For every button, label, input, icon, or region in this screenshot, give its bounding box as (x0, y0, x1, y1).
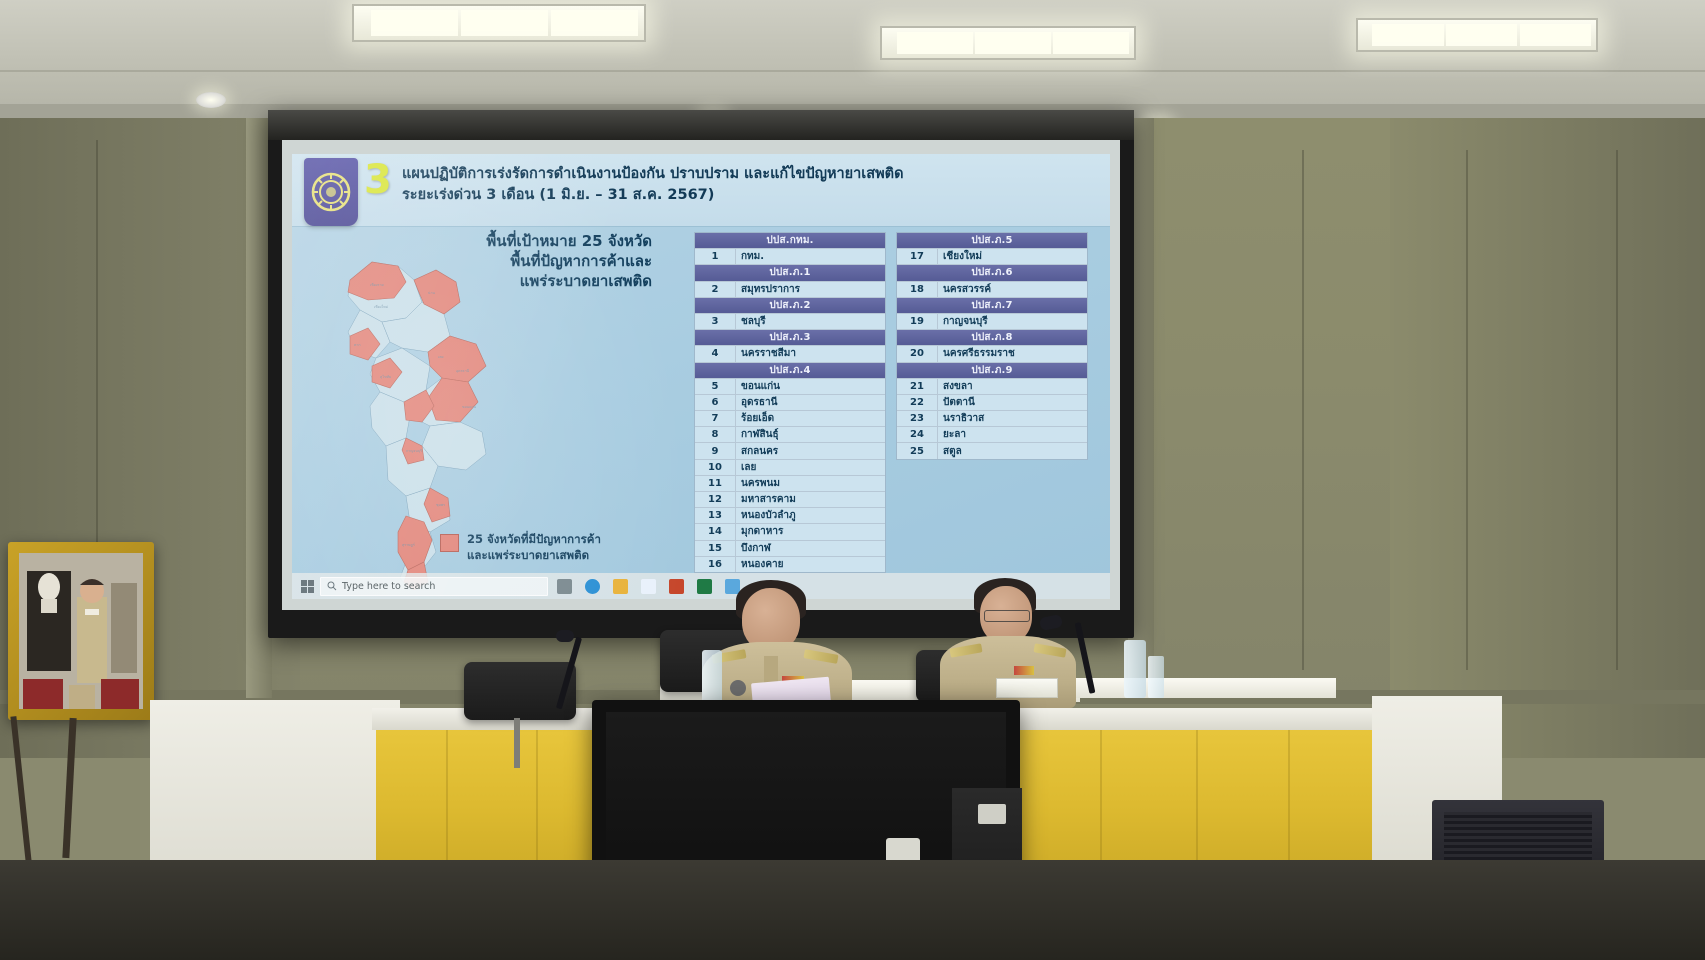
table-row: 3ชลบุรี (695, 314, 885, 330)
thai-government-emblem-icon (304, 158, 358, 226)
ceiling-light-fixture (352, 4, 646, 42)
slide-number: 3 (364, 160, 392, 200)
legend-color-swatch (440, 534, 459, 552)
table-row: 24ยะลา (897, 427, 1087, 443)
row-number: 14 (695, 524, 736, 539)
row-province: ยะลา (938, 427, 1087, 442)
table-row: 7ร้อยเอ็ด (695, 411, 885, 427)
row-province: ร้อยเอ็ด (736, 411, 885, 426)
table-row: 5ขอนแก่น (695, 379, 885, 395)
table-row: 25สตูล (897, 443, 1087, 458)
row-number: 12 (695, 492, 736, 507)
table-row: 21สงขลา (897, 379, 1087, 395)
table-group-header: ปปส.ภ.1 (695, 265, 885, 281)
slide-title-line-1: แผนปฏิบัติการเร่งรัดการดำเนินงานป้องกัน … (402, 164, 1102, 185)
row-number: 15 (695, 541, 736, 556)
row-province: กาญจนบุรี (938, 314, 1087, 329)
row-province: เชียงใหม่ (938, 249, 1087, 264)
recessed-downlight (196, 92, 226, 108)
uniform-insignia (730, 680, 746, 696)
row-province: มุกดาหาร (736, 524, 885, 539)
water-bottle (1124, 640, 1146, 698)
row-number: 24 (897, 427, 938, 442)
service-ribbon (1014, 666, 1034, 675)
wall-panel-seam (1466, 150, 1468, 670)
microphone-head (556, 630, 574, 642)
table-group-header: ปปส.ภ.3 (695, 330, 885, 346)
svg-text:เชียงราย: เชียงราย (370, 282, 384, 287)
table-row: 10เลย (695, 460, 885, 476)
slide-title: แผนปฏิบัติการเร่งรัดการดำเนินงานป้องกัน … (402, 164, 1102, 206)
monitor-screen (606, 712, 1006, 882)
search-placeholder-text: Type here to search (342, 581, 435, 592)
right-wall (1390, 118, 1705, 758)
chair (464, 662, 576, 720)
row-province: บึงกาฬ (736, 541, 885, 556)
row-province: นครศรีธรรมราช (938, 346, 1087, 361)
row-number: 6 (695, 395, 736, 410)
svg-text:น่าน: น่าน (428, 291, 435, 295)
table-row: 13หนองบัวลำภู (695, 508, 885, 524)
table-row: 18นครสวรรค์ (897, 282, 1087, 298)
table-row: 20นครศรีธรรมราช (897, 346, 1087, 362)
row-province: อุดรธานี (736, 395, 885, 410)
table-row: 2สมุทรปราการ (695, 282, 885, 298)
table-row: 16หนองคาย (695, 557, 885, 572)
row-number: 18 (897, 282, 938, 297)
start-glyph (301, 580, 314, 593)
floor (0, 860, 1705, 960)
row-number: 1 (695, 249, 736, 264)
svg-text:ขอนแก่น: ขอนแก่น (462, 405, 477, 409)
table-group-header: ปปส.ภ.2 (695, 298, 885, 314)
powerpoint-icon[interactable] (665, 576, 688, 597)
table-row: 19กาญจนบุรี (897, 314, 1087, 330)
royal-portrait-in-gold-frame (8, 542, 154, 720)
table-row: 14มุกดาหาร (695, 524, 885, 540)
row-number: 4 (695, 346, 736, 361)
row-number: 9 (695, 443, 736, 458)
legend-line-2: และแพร่ระบาดยาเสพติด (467, 548, 601, 564)
row-number: 3 (695, 314, 736, 329)
portrait-artwork (19, 553, 143, 709)
ceiling-light-fixture (880, 26, 1136, 60)
table-row: 17เชียงใหม่ (897, 249, 1087, 265)
row-province: นครราชสีมา (736, 346, 885, 361)
drinking-glass (1148, 656, 1164, 698)
slide-header: 3 แผนปฏิบัติการเร่งรัดการดำเนินงานป้องกั… (292, 154, 1110, 227)
table-row: 22ปัตตานี (897, 395, 1087, 411)
table-row: 11นครพนม (695, 476, 885, 492)
table-row: 8กาฬสินธุ์ (695, 427, 885, 443)
table-row: 12มหาสารคาม (695, 492, 885, 508)
legend-label: 25 จังหวัดที่มีปัญหาการค้า และแพร่ระบาดย… (467, 532, 601, 563)
chair-leg (514, 718, 520, 768)
table-group-header: ปปส.ภ.6 (897, 265, 1087, 281)
row-province: นครพนม (736, 476, 885, 491)
province-table-right: ปปส.ภ.517เชียงใหม่ปปส.ภ.618นครสวรรค์ปปส.… (896, 232, 1088, 460)
emblem-glyph (311, 172, 351, 212)
row-province: สมุทรปราการ (736, 282, 885, 297)
row-province: มหาสารคาม (736, 492, 885, 507)
row-province: นราธิวาส (938, 411, 1087, 426)
microsoft-edge-icon[interactable] (581, 576, 604, 597)
table-group-header: ปปส.กทม. (695, 233, 885, 249)
row-number: 5 (695, 379, 736, 394)
row-number: 22 (897, 395, 938, 410)
row-number: 7 (695, 411, 736, 426)
row-province: หนองบัวลำภู (736, 508, 885, 523)
table-group-header: ปปส.ภ.9 (897, 363, 1087, 379)
table-row: 15บึงกาฬ (695, 541, 885, 557)
table-group-header: ปปส.ภ.8 (897, 330, 1087, 346)
row-number: 19 (897, 314, 938, 329)
table-group-header: ปปส.ภ.4 (695, 363, 885, 379)
row-number: 2 (695, 282, 736, 297)
name-plate (996, 678, 1058, 698)
row-province: ปัตตานี (938, 395, 1087, 410)
file-explorer-icon[interactable] (609, 576, 632, 597)
table-group-header: ปปส.ภ.7 (897, 298, 1087, 314)
eyeglasses (984, 610, 1030, 622)
portrait-image (19, 553, 143, 709)
row-province: ชลบุรี (736, 314, 885, 329)
row-province: กาฬสินธุ์ (736, 427, 885, 442)
search-icon (327, 581, 337, 591)
task-view-icon[interactable] (553, 576, 576, 597)
row-province: สงขลา (938, 379, 1087, 394)
table-row: 4นครราชสีมา (695, 346, 885, 362)
row-number: 16 (695, 557, 736, 572)
wall-panel-seam (1616, 150, 1618, 670)
slide-title-line-2: ระยะเร่งด่วน 3 เดือน (1 มิ.ย. – 31 ส.ค. … (402, 185, 1102, 206)
row-province: สกลนคร (736, 443, 885, 458)
row-province: เลย (736, 460, 885, 475)
table-row: 23นราธิวาส (897, 411, 1087, 427)
row-number: 21 (897, 379, 938, 394)
province-table-left: ปปส.กทม.1กทม.ปปส.ภ.12สมุทรปราการปปส.ภ.23… (694, 232, 886, 573)
row-number: 10 (695, 460, 736, 475)
ceiling-seam (0, 70, 1705, 72)
search-input[interactable]: Type here to search (320, 577, 548, 596)
presentation-slide: 3 แผนปฏิบัติการเร่งรัดการดำเนินงานป้องกั… (292, 154, 1110, 599)
row-number: 8 (695, 427, 736, 442)
ceiling-light-fixture (1356, 18, 1598, 52)
monitor-port (978, 804, 1006, 824)
row-number: 11 (695, 476, 736, 491)
wall-panel-seam (1302, 150, 1304, 670)
table-row: 9สกลนคร (695, 443, 885, 459)
row-province: นครสวรรค์ (938, 282, 1087, 297)
windows-start-icon[interactable] (296, 575, 318, 597)
row-number: 25 (897, 443, 938, 458)
row-number: 23 (897, 411, 938, 426)
map-legend: 25 จังหวัดที่มีปัญหาการค้า และแพร่ระบาดย… (440, 532, 670, 563)
row-province: ขอนแก่น (736, 379, 885, 394)
row-province: กทม. (736, 249, 885, 264)
row-number: 13 (695, 508, 736, 523)
svg-text:ตาก: ตาก (354, 343, 361, 347)
svg-text:เลย: เลย (438, 355, 444, 359)
legend-line-1: 25 จังหวัดที่มีปัญหาการค้า (467, 532, 601, 548)
word-document-icon[interactable] (637, 576, 660, 597)
projection-screen-surface: 3 แผนปฏิบัติการเร่งรัดการดำเนินงานป้องกั… (282, 140, 1120, 610)
row-number: 17 (897, 249, 938, 264)
table-row: 6อุดรธานี (695, 395, 885, 411)
row-province: สตูล (938, 443, 1087, 458)
projection-screen-housing (268, 110, 1134, 140)
svg-text:เชียงใหม่: เชียงใหม่ (374, 304, 389, 309)
table-group-header: ปปส.ภ.5 (897, 233, 1087, 249)
row-province: หนองคาย (736, 557, 885, 572)
conference-room-scene: 3 แผนปฏิบัติการเร่งรัดการดำเนินงานป้องกั… (0, 0, 1705, 960)
table-row: 1กทม. (695, 249, 885, 265)
row-number: 20 (897, 346, 938, 361)
